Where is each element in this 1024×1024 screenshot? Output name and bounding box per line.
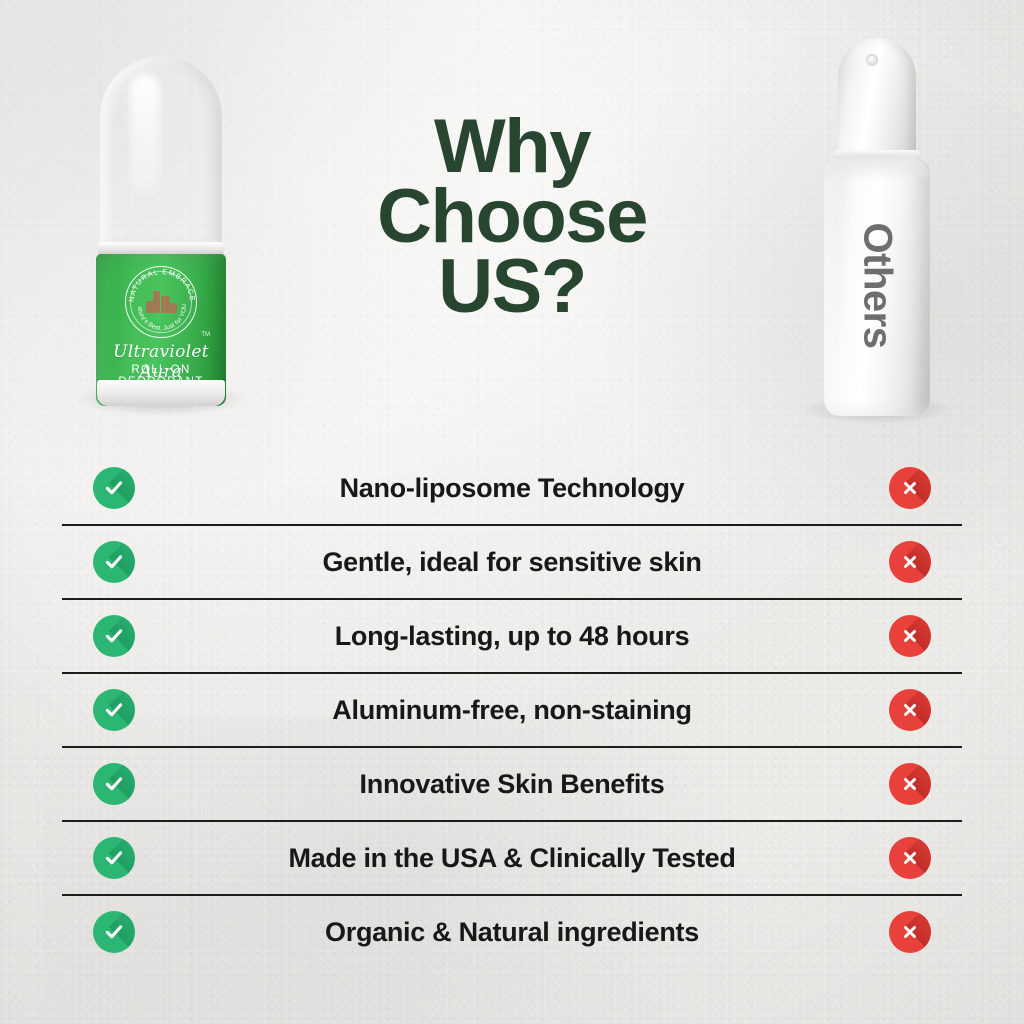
- feature-label: Innovative Skin Benefits: [166, 769, 858, 800]
- check-circle-icon: [93, 541, 135, 583]
- comparison-row: Nano-liposome Technology: [62, 452, 962, 524]
- cell-theirs: [858, 615, 962, 657]
- infographic-canvas: Why Choose US? NATURAL EMBRACE: [0, 0, 1024, 1024]
- cell-ours: [62, 467, 166, 509]
- page-title-line-1: Why: [330, 112, 694, 182]
- product-base: [97, 380, 225, 406]
- comparison-row: Long-lasting, up to 48 hours: [62, 600, 962, 672]
- cross-circle-icon: [889, 837, 931, 879]
- cell-theirs: [858, 837, 962, 879]
- cross-circle-icon: [889, 615, 931, 657]
- competitor-label: Others: [816, 156, 938, 414]
- competitor-label-text: Others: [855, 222, 900, 348]
- comparison-row: Organic & Natural ingredients: [62, 896, 962, 968]
- check-circle-icon: [93, 837, 135, 879]
- cross-circle-icon: [889, 689, 931, 731]
- cell-ours: [62, 911, 166, 953]
- comparison-row: Innovative Skin Benefits: [62, 748, 962, 820]
- feature-label: Gentle, ideal for sensitive skin: [166, 547, 858, 578]
- product-image-rollon-deodorant: NATURAL EMBRACE Nature's Best, Just for …: [88, 56, 234, 406]
- comparison-row: Aluminum-free, non-staining: [62, 674, 962, 746]
- feature-label: Aluminum-free, non-staining: [166, 695, 858, 726]
- comparison-row: Gentle, ideal for sensitive skin: [62, 526, 962, 598]
- cell-theirs: [858, 689, 962, 731]
- brand-emblem: NATURAL EMBRACE Nature's Best, Just for …: [125, 266, 197, 338]
- check-circle-icon: [93, 911, 135, 953]
- trademark-symbol: TM: [201, 332, 210, 338]
- cell-ours: [62, 837, 166, 879]
- feature-label: Long-lasting, up to 48 hours: [166, 621, 858, 652]
- check-circle-icon: [93, 615, 135, 657]
- page-title-line-3: US?: [330, 252, 694, 322]
- check-circle-icon: [93, 689, 135, 731]
- cell-theirs: [858, 763, 962, 805]
- check-circle-icon: [93, 467, 135, 509]
- product-image-competitor-spray: Others: [816, 38, 938, 416]
- brand-emblem-illustration: [144, 289, 178, 315]
- cell-theirs: [858, 911, 962, 953]
- cell-ours: [62, 763, 166, 805]
- cross-circle-icon: [889, 541, 931, 583]
- feature-label: Organic & Natural ingredients: [166, 917, 858, 948]
- cross-circle-icon: [889, 467, 931, 509]
- cell-ours: [62, 689, 166, 731]
- cell-ours: [62, 615, 166, 657]
- competitor-nozzle: [866, 54, 878, 66]
- feature-label: Nano-liposome Technology: [166, 473, 858, 504]
- cell-theirs: [858, 467, 962, 509]
- product-cap: [100, 56, 222, 252]
- cross-circle-icon: [889, 911, 931, 953]
- cell-ours: [62, 541, 166, 583]
- check-circle-icon: [93, 763, 135, 805]
- feature-label: Made in the USA & Clinically Tested: [166, 843, 858, 874]
- cell-theirs: [858, 541, 962, 583]
- comparison-table: Nano-liposome TechnologyGentle, ideal fo…: [62, 452, 962, 968]
- cross-circle-icon: [889, 763, 931, 805]
- page-title: Why Choose US?: [330, 112, 694, 322]
- comparison-row: Made in the USA & Clinically Tested: [62, 822, 962, 894]
- product-cap-highlight: [130, 74, 160, 194]
- page-title-line-2: Choose: [330, 182, 694, 252]
